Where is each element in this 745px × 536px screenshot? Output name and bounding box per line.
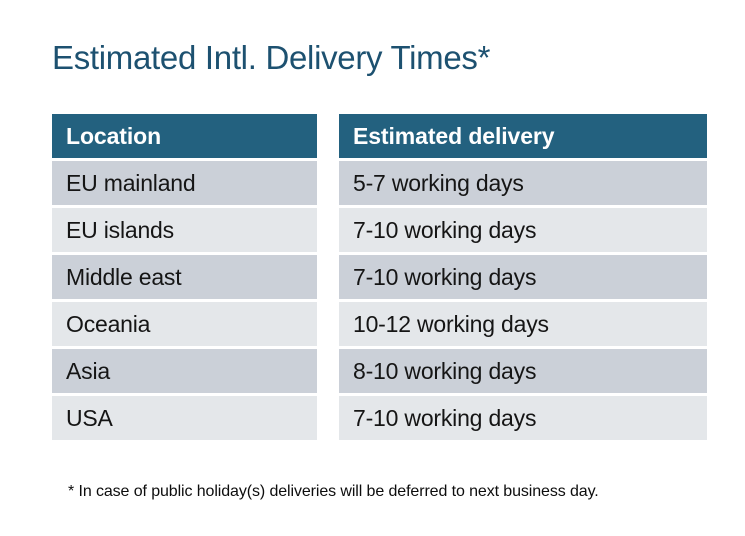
cell-estimated-delivery: 5-7 working days: [339, 161, 707, 205]
cell-location: Asia: [52, 349, 317, 393]
column-divider: [317, 208, 339, 252]
table-row: Middle east 7-10 working days: [52, 255, 690, 299]
table-row: Asia 8-10 working days: [52, 349, 690, 393]
footnote-text: * In case of public holiday(s) deliverie…: [68, 481, 599, 503]
cell-location: EU mainland: [52, 161, 317, 205]
cell-estimated-delivery: 7-10 working days: [339, 396, 707, 440]
column-divider: [317, 114, 339, 158]
table-row: USA 7-10 working days: [52, 396, 690, 440]
table-row: EU islands 7-10 working days: [52, 208, 690, 252]
page-root: Estimated Intl. Delivery Times* Location…: [0, 0, 745, 536]
cell-estimated-delivery: 8-10 working days: [339, 349, 707, 393]
cell-location: Middle east: [52, 255, 317, 299]
cell-estimated-delivery: 7-10 working days: [339, 208, 707, 252]
column-header-estimated-delivery: Estimated delivery: [339, 114, 707, 158]
delivery-times-table: Location Estimated delivery EU mainland …: [52, 114, 690, 440]
cell-location: EU islands: [52, 208, 317, 252]
table-header-row: Location Estimated delivery: [52, 114, 690, 158]
column-divider: [317, 161, 339, 205]
cell-estimated-delivery: 10-12 working days: [339, 302, 707, 346]
table-row: EU mainland 5-7 working days: [52, 161, 690, 205]
cell-location: USA: [52, 396, 317, 440]
cell-location: Oceania: [52, 302, 317, 346]
column-divider: [317, 302, 339, 346]
column-divider: [317, 255, 339, 299]
column-divider: [317, 396, 339, 440]
page-title: Estimated Intl. Delivery Times*: [52, 36, 490, 80]
column-divider: [317, 349, 339, 393]
table-row: Oceania 10-12 working days: [52, 302, 690, 346]
column-header-location: Location: [52, 114, 317, 158]
cell-estimated-delivery: 7-10 working days: [339, 255, 707, 299]
